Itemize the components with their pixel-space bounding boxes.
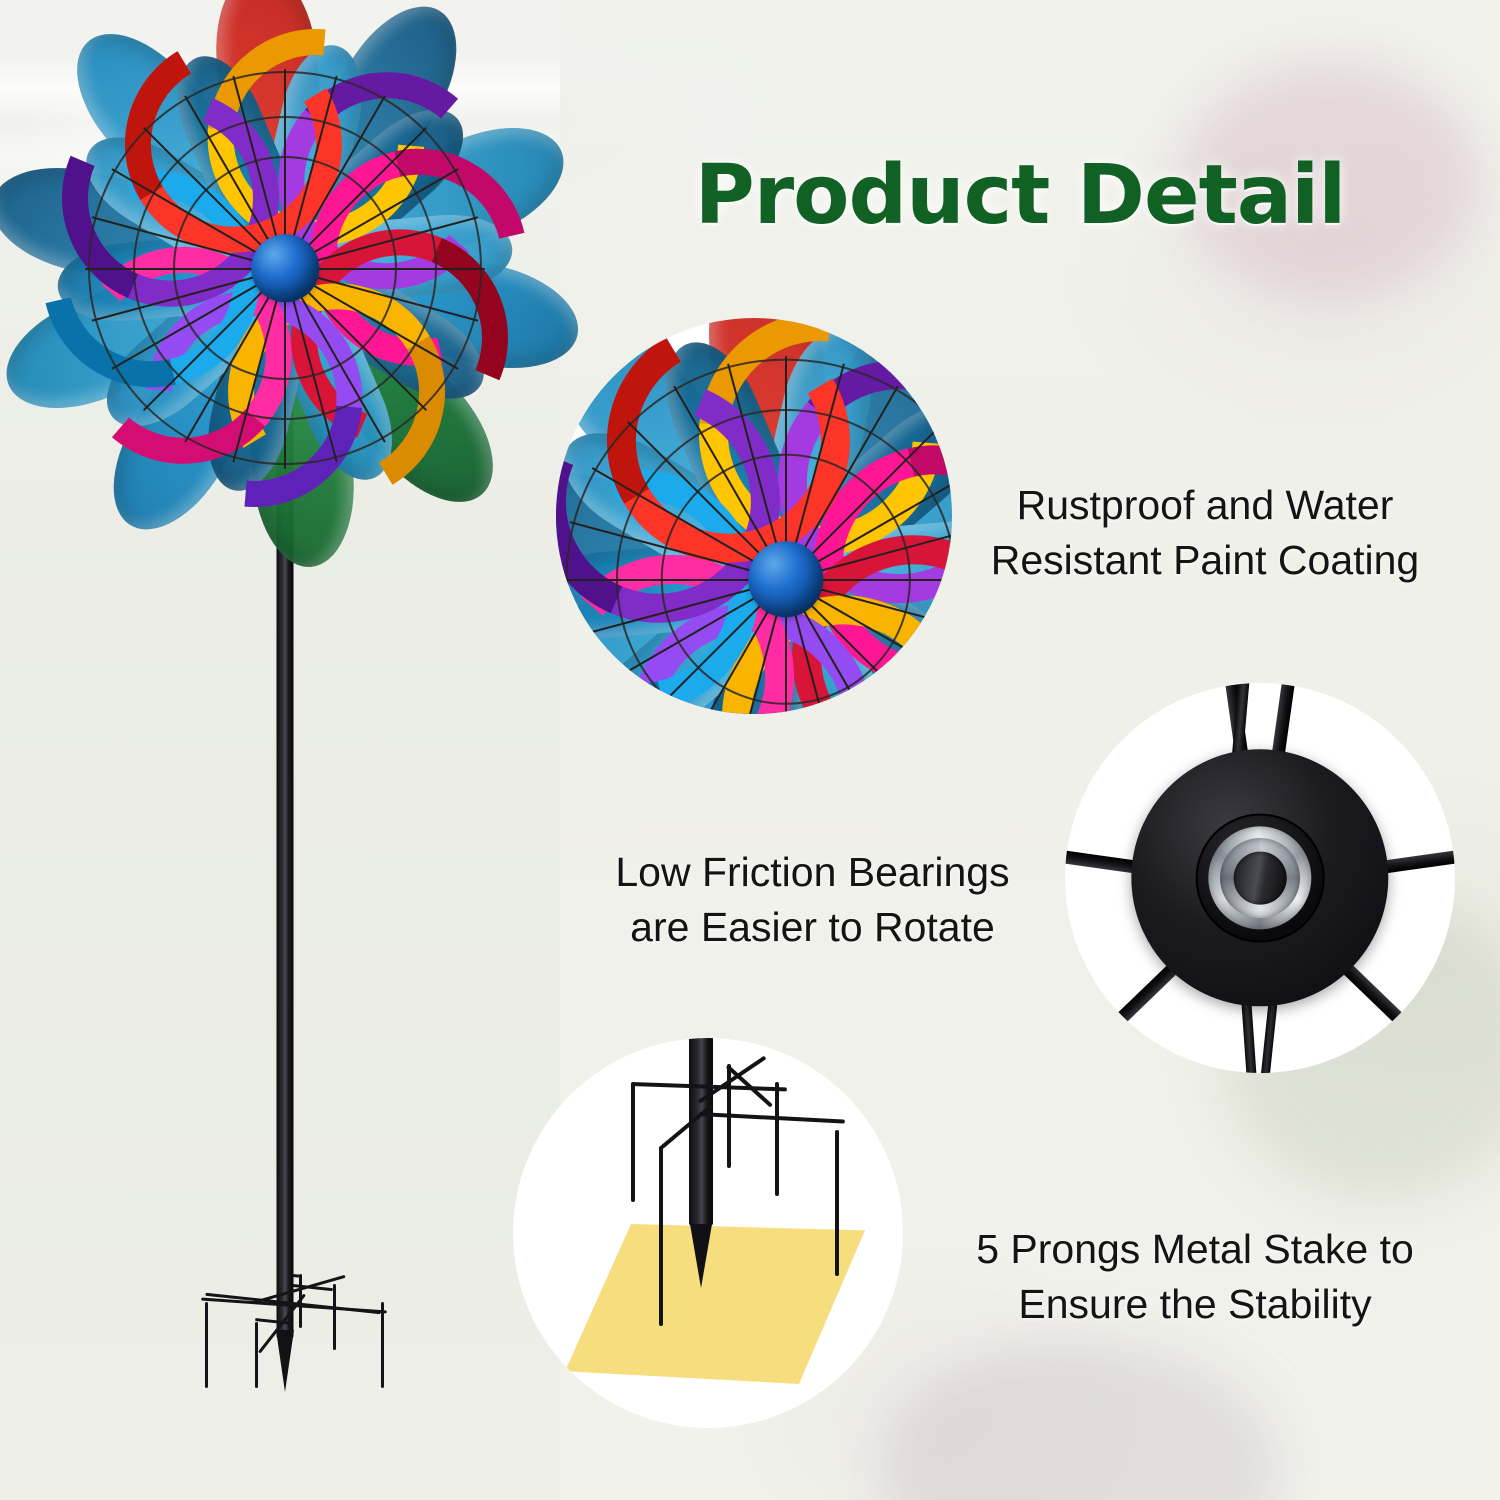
main-product-image xyxy=(0,0,560,1500)
feature-caption-rustproof: Rustproof and Water Resistant Paint Coat… xyxy=(960,478,1450,587)
feature-image-rustproof xyxy=(556,318,952,714)
stake-prong xyxy=(631,1082,635,1202)
stake-prong xyxy=(255,1322,258,1388)
stake-prong xyxy=(333,1284,336,1350)
feature-image-stake xyxy=(513,1038,903,1428)
pole-ground-tip xyxy=(276,1330,294,1392)
five-prong-stake-closeup xyxy=(513,1038,903,1428)
pinwheel-hub-sphere xyxy=(251,234,319,302)
caption-line-1: Low Friction Bearings xyxy=(565,845,1060,900)
caption-line-2: Ensure the Stability xyxy=(940,1277,1450,1332)
caption-line-1: 5 Prongs Metal Stake to xyxy=(940,1222,1450,1277)
stake-prong xyxy=(775,1082,779,1196)
pinwheel-head xyxy=(35,18,535,518)
bearing-bore xyxy=(1234,852,1287,905)
page-title: Product Detail xyxy=(600,148,1440,243)
stake-prong xyxy=(835,1130,839,1276)
ground-plane xyxy=(565,1224,865,1384)
caption-line-1: Rustproof and Water xyxy=(960,478,1450,533)
pinwheel-hub-sphere xyxy=(748,542,824,618)
product-detail-infographic: Product Detail Rustproof and Water Resis… xyxy=(0,0,1500,1500)
stake-prong xyxy=(205,1302,208,1388)
stake-prong xyxy=(381,1302,384,1388)
pinwheel-blades-closeup xyxy=(556,318,952,714)
feature-image-bearings xyxy=(1065,683,1455,1073)
caption-line-2: Resistant Paint Coating xyxy=(960,533,1450,588)
caption-line-2: are Easier to Rotate xyxy=(565,900,1060,955)
feature-caption-stake: 5 Prongs Metal Stake to Ensure the Stabi… xyxy=(940,1222,1450,1331)
feature-caption-bearings: Low Friction Bearings are Easier to Rota… xyxy=(565,845,1060,954)
stake-pole xyxy=(689,1038,713,1226)
stake-tip xyxy=(690,1224,712,1288)
stake-arm xyxy=(699,1112,845,1124)
ball-bearing-assembly xyxy=(1065,683,1455,1073)
stake-prong xyxy=(659,1146,663,1326)
